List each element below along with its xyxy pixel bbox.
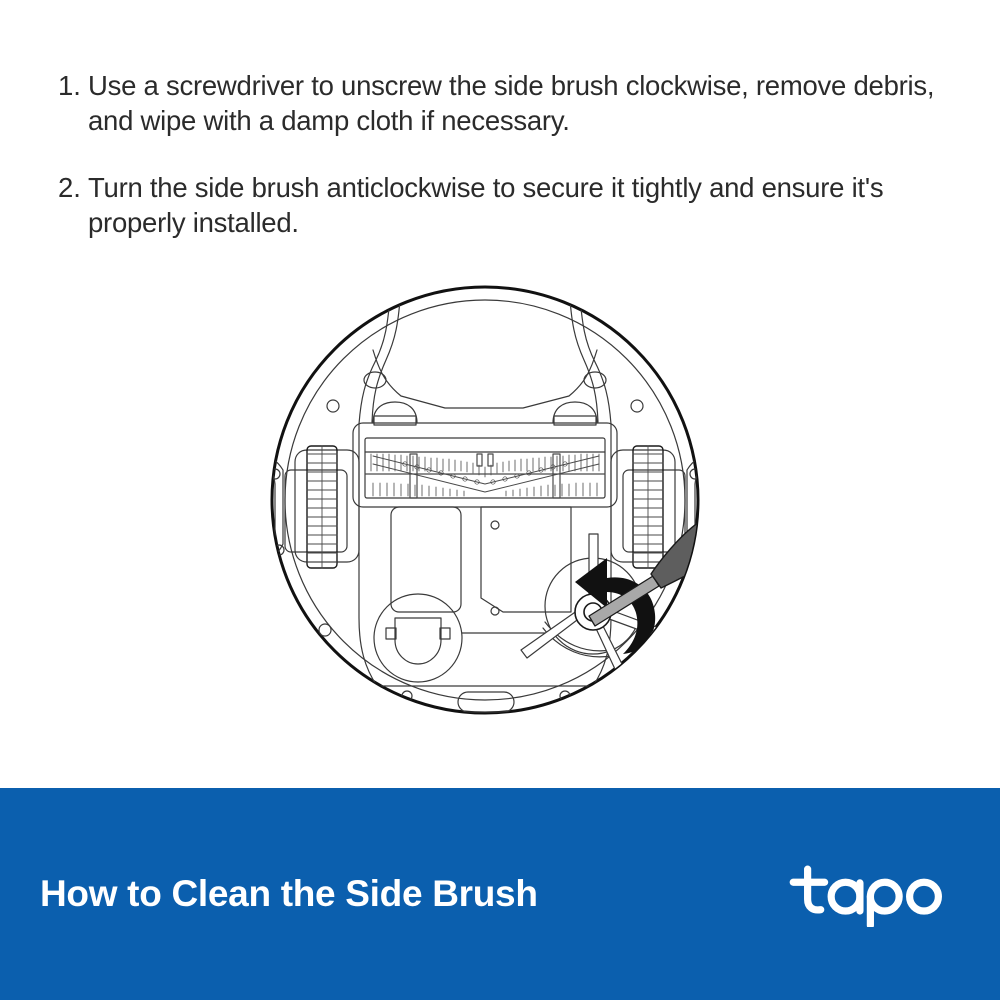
left-wheel-housing <box>295 450 359 562</box>
caster-wheel-outer <box>374 594 462 682</box>
brush-latch-right <box>553 402 597 423</box>
roller-endcap-right <box>553 454 560 498</box>
screw-hole <box>491 521 499 529</box>
footer-content: How to Clean the Side Brush <box>0 788 1000 1000</box>
roller-center-tab-2 <box>488 454 493 466</box>
tapo-logo <box>788 861 958 927</box>
dustbin-panel <box>391 507 461 612</box>
right-wheel-treads <box>633 446 663 568</box>
screw-hole <box>327 400 339 412</box>
chassis-inner-ring <box>285 300 685 700</box>
step-text: Turn the side brush anticlockwise to sec… <box>88 170 943 240</box>
left-wheel-inner-plate <box>285 470 347 552</box>
battery-panel <box>481 507 571 612</box>
left-wheel-treads <box>307 446 337 568</box>
right-wheel-housing <box>611 450 675 562</box>
screw-hole <box>491 607 499 615</box>
bottom-bumper-strip-2 <box>277 650 693 726</box>
tapo-logo-letter-a <box>831 882 860 911</box>
robot-vacuum-svg <box>255 278 715 738</box>
upper-panel-seam-left <box>373 350 597 408</box>
step-number: 1. <box>58 68 88 103</box>
step-text: Use a screwdriver to unscrew the side br… <box>88 68 943 138</box>
tapo-logo-letter-p <box>870 882 899 911</box>
screw-hole <box>319 624 331 636</box>
step-number: 2. <box>58 170 88 205</box>
cover-plate-outline <box>359 286 611 686</box>
tapo-logo-letter-t <box>808 869 821 910</box>
caster-wheel-body <box>395 618 441 664</box>
footer-banner: How to Clean the Side Brush <box>0 788 1000 1000</box>
main-brush-housing <box>353 423 617 507</box>
brush-latch-right-slot <box>554 416 596 425</box>
screw-hole <box>631 400 643 412</box>
instruction-list: 1. Use a screwdriver to unscrew the side… <box>58 68 958 272</box>
main-brush-lower-bristles <box>373 483 597 496</box>
tapo-logo-letter-o <box>910 882 939 911</box>
brush-latch-left <box>373 402 417 423</box>
roller-center-tab <box>477 454 482 466</box>
brush-latch-left-slot <box>374 416 416 425</box>
bottom-charge-port <box>458 692 514 712</box>
instruction-step: 1. Use a screwdriver to unscrew the side… <box>58 68 958 138</box>
instruction-step: 2. Turn the side brush anticlockwise to … <box>58 170 958 240</box>
roller-endcap-left <box>410 454 417 498</box>
robot-vacuum-underside-diagram <box>255 278 715 738</box>
bottom-bumper-strip <box>283 660 687 732</box>
page-root: 1. Use a screwdriver to unscrew the side… <box>0 0 1000 1000</box>
page-title: How to Clean the Side Brush <box>40 872 538 916</box>
